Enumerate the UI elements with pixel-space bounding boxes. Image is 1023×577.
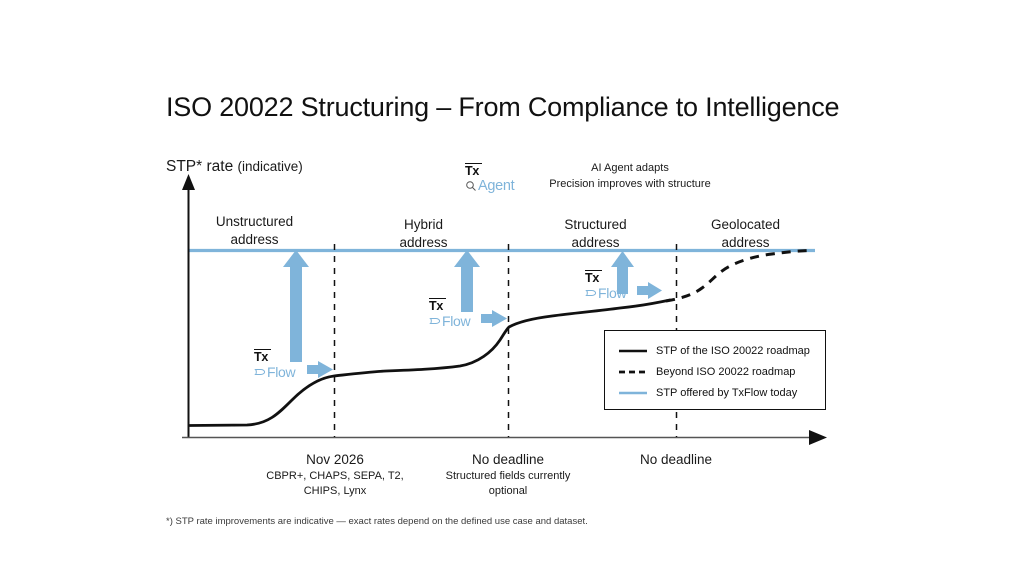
footnote: *) STP rate improvements are indicative … <box>166 516 588 527</box>
segment-label-geolocated-l1: Geolocated <box>711 217 780 232</box>
tx-agent-prefix: Tx <box>465 163 482 178</box>
legend-item-dashed: Beyond ISO 20022 roadmap <box>605 361 825 382</box>
x-caption-nov2026-main: Nov 2026 <box>252 451 418 469</box>
legend-key-dashed-line-icon <box>619 367 647 377</box>
chart-legend: STP of the ISO 20022 roadmap Beyond ISO … <box>604 330 826 410</box>
legend-key-solid-line-icon <box>619 346 647 356</box>
segment-label-structured-l1: Structured <box>564 217 626 232</box>
flow-arrow-2 <box>481 310 507 327</box>
x-caption-nov2026-sub2: CHIPS, Lynx <box>252 484 418 499</box>
tx-flow-3-word: Flow <box>598 286 626 300</box>
legend-label-solid: STP of the ISO 20022 roadmap <box>656 345 810 357</box>
x-caption-no-deadline-1-sub2: optional <box>428 484 588 499</box>
tx-flow-2-prefix: Tx <box>429 298 446 313</box>
flow-tag-icon <box>429 315 441 327</box>
segment-label-structured: Structured address <box>538 216 653 252</box>
segment-label-unstructured: Unstructured address <box>197 213 312 249</box>
y-axis-label-main: STP* rate <box>166 158 233 175</box>
ai-agent-note: AI Agent adapts Precision improves with … <box>545 161 715 193</box>
segment-label-unstructured-l1: Unstructured <box>216 214 293 229</box>
segment-label-hybrid-l1: Hybrid <box>404 217 443 232</box>
segment-label-geolocated: Geolocated address <box>688 216 803 252</box>
tx-agent-word: Agent <box>478 179 514 194</box>
x-caption-no-deadline-1: No deadline Structured fields currently … <box>428 451 588 499</box>
legend-label-blue: STP offered by TxFlow today <box>656 387 797 399</box>
legend-key-blue-line-icon <box>619 388 647 398</box>
segment-label-geolocated-l2: address <box>688 234 803 252</box>
legend-label-dashed: Beyond ISO 20022 roadmap <box>656 366 795 378</box>
tx-flow-badge-1[interactable]: Tx Flow <box>254 349 295 379</box>
magnifier-icon <box>465 180 477 192</box>
tx-flow-1-word: Flow <box>267 365 295 379</box>
y-axis-label-sub: (indicative) <box>238 159 303 174</box>
x-caption-no-deadline-1-main: No deadline <box>428 451 588 469</box>
x-caption-no-deadline-1-sub1: Structured fields currently <box>428 469 588 484</box>
tx-flow-badge-2[interactable]: Tx Flow <box>429 298 470 328</box>
segment-label-structured-l2: address <box>538 234 653 252</box>
slide-canvas: ISO 20022 Structuring – From Compliance … <box>0 0 1023 577</box>
flow-arrow-3 <box>637 282 662 299</box>
legend-item-blue: STP offered by TxFlow today <box>605 382 825 403</box>
tx-flow-2-word: Flow <box>442 314 470 328</box>
uplift-arrow-1 <box>283 250 309 362</box>
tx-flow-1-prefix: Tx <box>254 349 271 364</box>
x-axis-arrowhead <box>809 430 827 445</box>
flow-tag-icon <box>585 287 597 299</box>
tx-flow-badge-3[interactable]: Tx Flow <box>585 270 626 300</box>
y-axis-label: STP* rate (indicative) <box>166 158 303 176</box>
segment-label-unstructured-l2: address <box>197 231 312 249</box>
stp-curve-dashed <box>666 251 808 302</box>
x-caption-nov2026-sub1: CBPR+, CHAPS, SEPA, T2, <box>252 469 418 484</box>
flow-tag-icon <box>254 366 266 378</box>
x-caption-nov2026: Nov 2026 CBPR+, CHAPS, SEPA, T2, CHIPS, … <box>252 451 418 499</box>
x-caption-no-deadline-2-main: No deadline <box>596 451 756 469</box>
x-caption-no-deadline-2: No deadline <box>596 451 756 469</box>
slide-title: ISO 20022 Structuring – From Compliance … <box>166 92 839 123</box>
ai-agent-note-line2: Precision improves with structure <box>545 177 715 193</box>
ai-agent-note-line1: AI Agent adapts <box>545 161 715 177</box>
segment-label-hybrid-l2: address <box>366 234 481 252</box>
tx-agent-badge[interactable]: Tx Agent <box>465 163 514 193</box>
y-axis-arrowhead <box>182 174 195 190</box>
legend-item-solid: STP of the ISO 20022 roadmap <box>605 340 825 361</box>
segment-label-hybrid: Hybrid address <box>366 216 481 252</box>
tx-flow-3-prefix: Tx <box>585 270 602 285</box>
